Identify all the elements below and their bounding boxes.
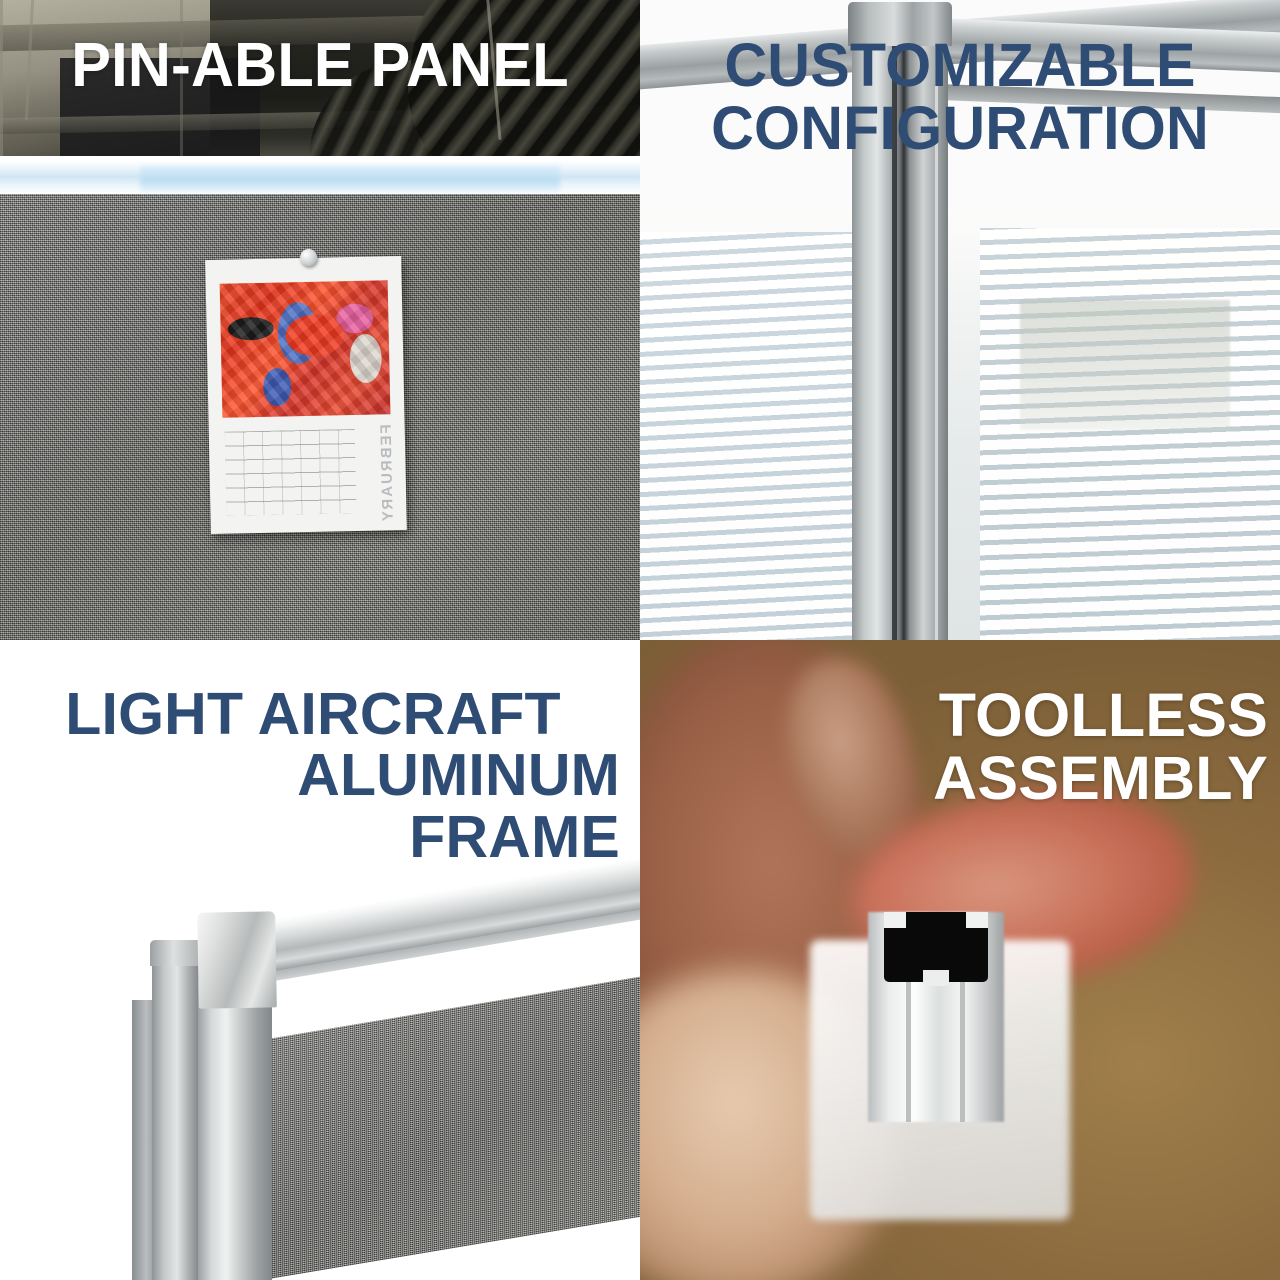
- calendar-artwork: [220, 280, 391, 417]
- ceiling-pipe: [0, 0, 3, 156]
- caption-line: TOOLLESS: [648, 684, 1268, 747]
- caption-line: FRAME: [12, 807, 620, 868]
- extrusion-rib: [906, 982, 911, 1122]
- frame-corner-joint: [197, 911, 277, 1008]
- extrusion-center-tab: [923, 970, 949, 986]
- extrusion-notch-left: [884, 912, 906, 928]
- feature-infographic: FEBRUARY: [0, 0, 1280, 1280]
- left-glass-panel-blinds: [640, 232, 858, 640]
- caption-toolless-assembly: TOOLLESS ASSEMBLY: [648, 684, 1268, 811]
- glass-blue-sheen: [140, 166, 560, 192]
- caption-line: ASSEMBLY: [648, 747, 1268, 810]
- caption-pin-able-panel: PIN-ABLE PANEL: [13, 34, 627, 98]
- extrusion-notch-right: [966, 912, 988, 928]
- calendar-date-grid: [225, 429, 357, 516]
- frame-post-middle-cap: [150, 940, 202, 966]
- calendar-month-label: FEBRUARY: [378, 424, 397, 523]
- right-glass-panel-blinds: [980, 228, 1280, 640]
- exterior-building-blur: [1020, 300, 1230, 430]
- frame-post-front: [198, 980, 272, 1280]
- frame-post-middle: [152, 948, 200, 1280]
- pinned-calendar: FEBRUARY: [205, 256, 407, 534]
- caption-line: CUSTOMIZABLE: [724, 31, 1195, 99]
- push-pin-icon: [300, 249, 317, 266]
- caption-line: CONFIGURATION: [711, 94, 1209, 162]
- caption-line: ALUMINUM: [12, 745, 620, 806]
- caption-aluminum-frame: LIGHT AIRCRAFT ALUMINUM FRAME: [12, 684, 620, 868]
- caption-line: LIGHT AIRCRAFT: [12, 684, 620, 745]
- extrusion-rib: [960, 982, 965, 1122]
- caption-customizable-configuration: CUSTOMIZABLE CONFIGURATION: [661, 34, 1259, 161]
